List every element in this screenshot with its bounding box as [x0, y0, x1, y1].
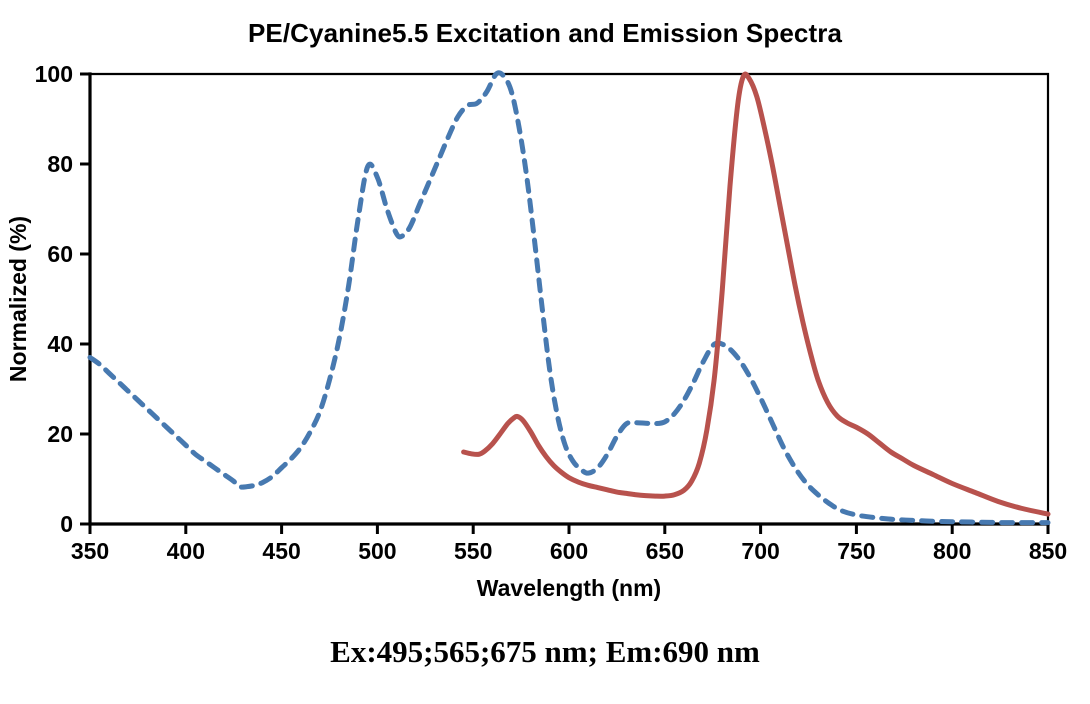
x-tick-label: 400 — [167, 538, 205, 564]
y-tick-label: 60 — [47, 241, 73, 267]
figure-caption: Ex:495;565;675 nm; Em:690 nm — [0, 634, 1090, 670]
x-tick-label: 500 — [358, 538, 396, 564]
x-tick-label: 850 — [1029, 538, 1067, 564]
y-tick-label: 0 — [60, 511, 73, 537]
x-tick-label: 600 — [550, 538, 588, 564]
x-tick-label: 800 — [933, 538, 971, 564]
x-tick-label: 450 — [262, 538, 300, 564]
x-tick-label: 750 — [837, 538, 875, 564]
x-tick-label: 700 — [741, 538, 779, 564]
y-axis-title: Normalized (%) — [5, 216, 31, 382]
x-tick-label: 650 — [646, 538, 684, 564]
y-tick-label: 40 — [47, 331, 73, 357]
x-tick-label: 550 — [454, 538, 492, 564]
y-tick-label: 20 — [47, 421, 73, 447]
data-series — [90, 73, 1048, 523]
spectra-figure: PE/Cyanine5.5 Excitation and Emission Sp… — [0, 0, 1090, 704]
y-tick-label: 100 — [35, 61, 73, 87]
y-tick-label: 80 — [47, 151, 73, 177]
spectra-plot: 0204060801003504004505005506006507007508… — [0, 0, 1090, 704]
x-tick-label: 350 — [71, 538, 109, 564]
axis-ticks: 0204060801003504004505005506006507007508… — [35, 61, 1068, 564]
series-emission-line — [464, 74, 1048, 514]
series-excitation-line — [90, 73, 1048, 523]
x-axis-title: Wavelength (nm) — [477, 575, 661, 601]
